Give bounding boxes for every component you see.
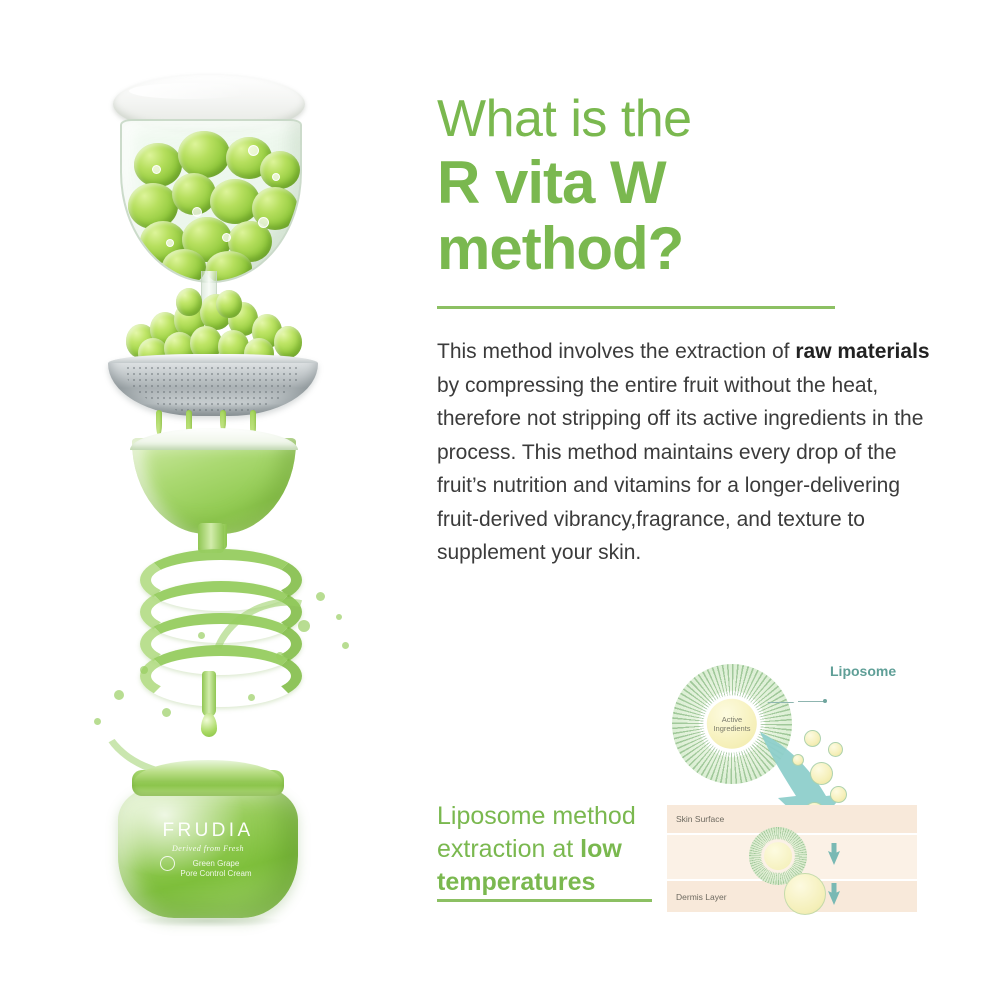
- liposome-label: Liposome: [830, 663, 896, 679]
- content-column: What is the R vita W method? This method…: [437, 0, 957, 1000]
- ingredient-bubble: [830, 786, 847, 803]
- skin-layers-panel: Skin Surface Dermis Layer: [667, 805, 917, 912]
- liposome-leader-line: [780, 680, 828, 706]
- dermis-layer-label: Dermis Layer: [676, 892, 727, 902]
- core-label-line1: Active: [722, 715, 742, 724]
- metal-strainer: [108, 354, 318, 416]
- press-glass-bowl: [120, 119, 302, 283]
- liposome-divider: [437, 899, 652, 902]
- grape-bowl-press-icon: [105, 75, 315, 305]
- jar-opening: [134, 760, 282, 782]
- ingredient-bubble: [792, 754, 804, 766]
- headline-line-2: R vita W: [437, 150, 957, 216]
- spiral-coil-icon: [140, 545, 290, 715]
- grape-seal-icon: [160, 856, 175, 871]
- body-text-part1: This method involves the extraction of: [437, 340, 795, 363]
- body-paragraph: This method involves the extraction of r…: [437, 335, 937, 570]
- ingredient-bubble: [810, 762, 833, 785]
- jar-label: FRUDIA Derived from Fresh Green Grape Po…: [118, 820, 298, 879]
- liposome-diagram: ActiveIngredients Liposome Ski: [652, 650, 952, 925]
- cream-jar: FRUDIA Derived from Fresh Green Grape Po…: [118, 760, 298, 925]
- headline-line-1: What is the: [437, 0, 957, 150]
- product-name-line2: Pore Control Cream: [118, 869, 298, 879]
- brand-name: FRUDIA: [118, 820, 298, 842]
- core-label-line2: Ingredients: [713, 724, 750, 733]
- body-text-part2: by compressing the entire fruit without …: [437, 374, 923, 565]
- jar-shadow: [134, 915, 282, 927]
- micro-arrow-icon: [827, 883, 841, 905]
- skin-surface-label: Skin Surface: [676, 814, 724, 824]
- extraction-process-illustration: FRUDIA Derived from Fresh Green Grape Po…: [0, 0, 420, 1000]
- body-text-bold: raw materials: [795, 340, 929, 363]
- headline-divider: [437, 306, 835, 309]
- ingredient-bubble: [828, 742, 843, 757]
- brand-tagline: Derived from Fresh: [118, 844, 298, 853]
- released-ingredient-drop: [784, 873, 826, 915]
- product-name-line1: Green Grape: [118, 859, 298, 869]
- liposome-heading: Liposome method extraction at low temper…: [437, 800, 667, 899]
- ingredient-bubble: [804, 730, 821, 747]
- infographic-page: FRUDIA Derived from Fresh Green Grape Po…: [0, 0, 1000, 1000]
- micro-arrow-icon: [827, 843, 841, 865]
- headline-line-3: method?: [437, 216, 957, 282]
